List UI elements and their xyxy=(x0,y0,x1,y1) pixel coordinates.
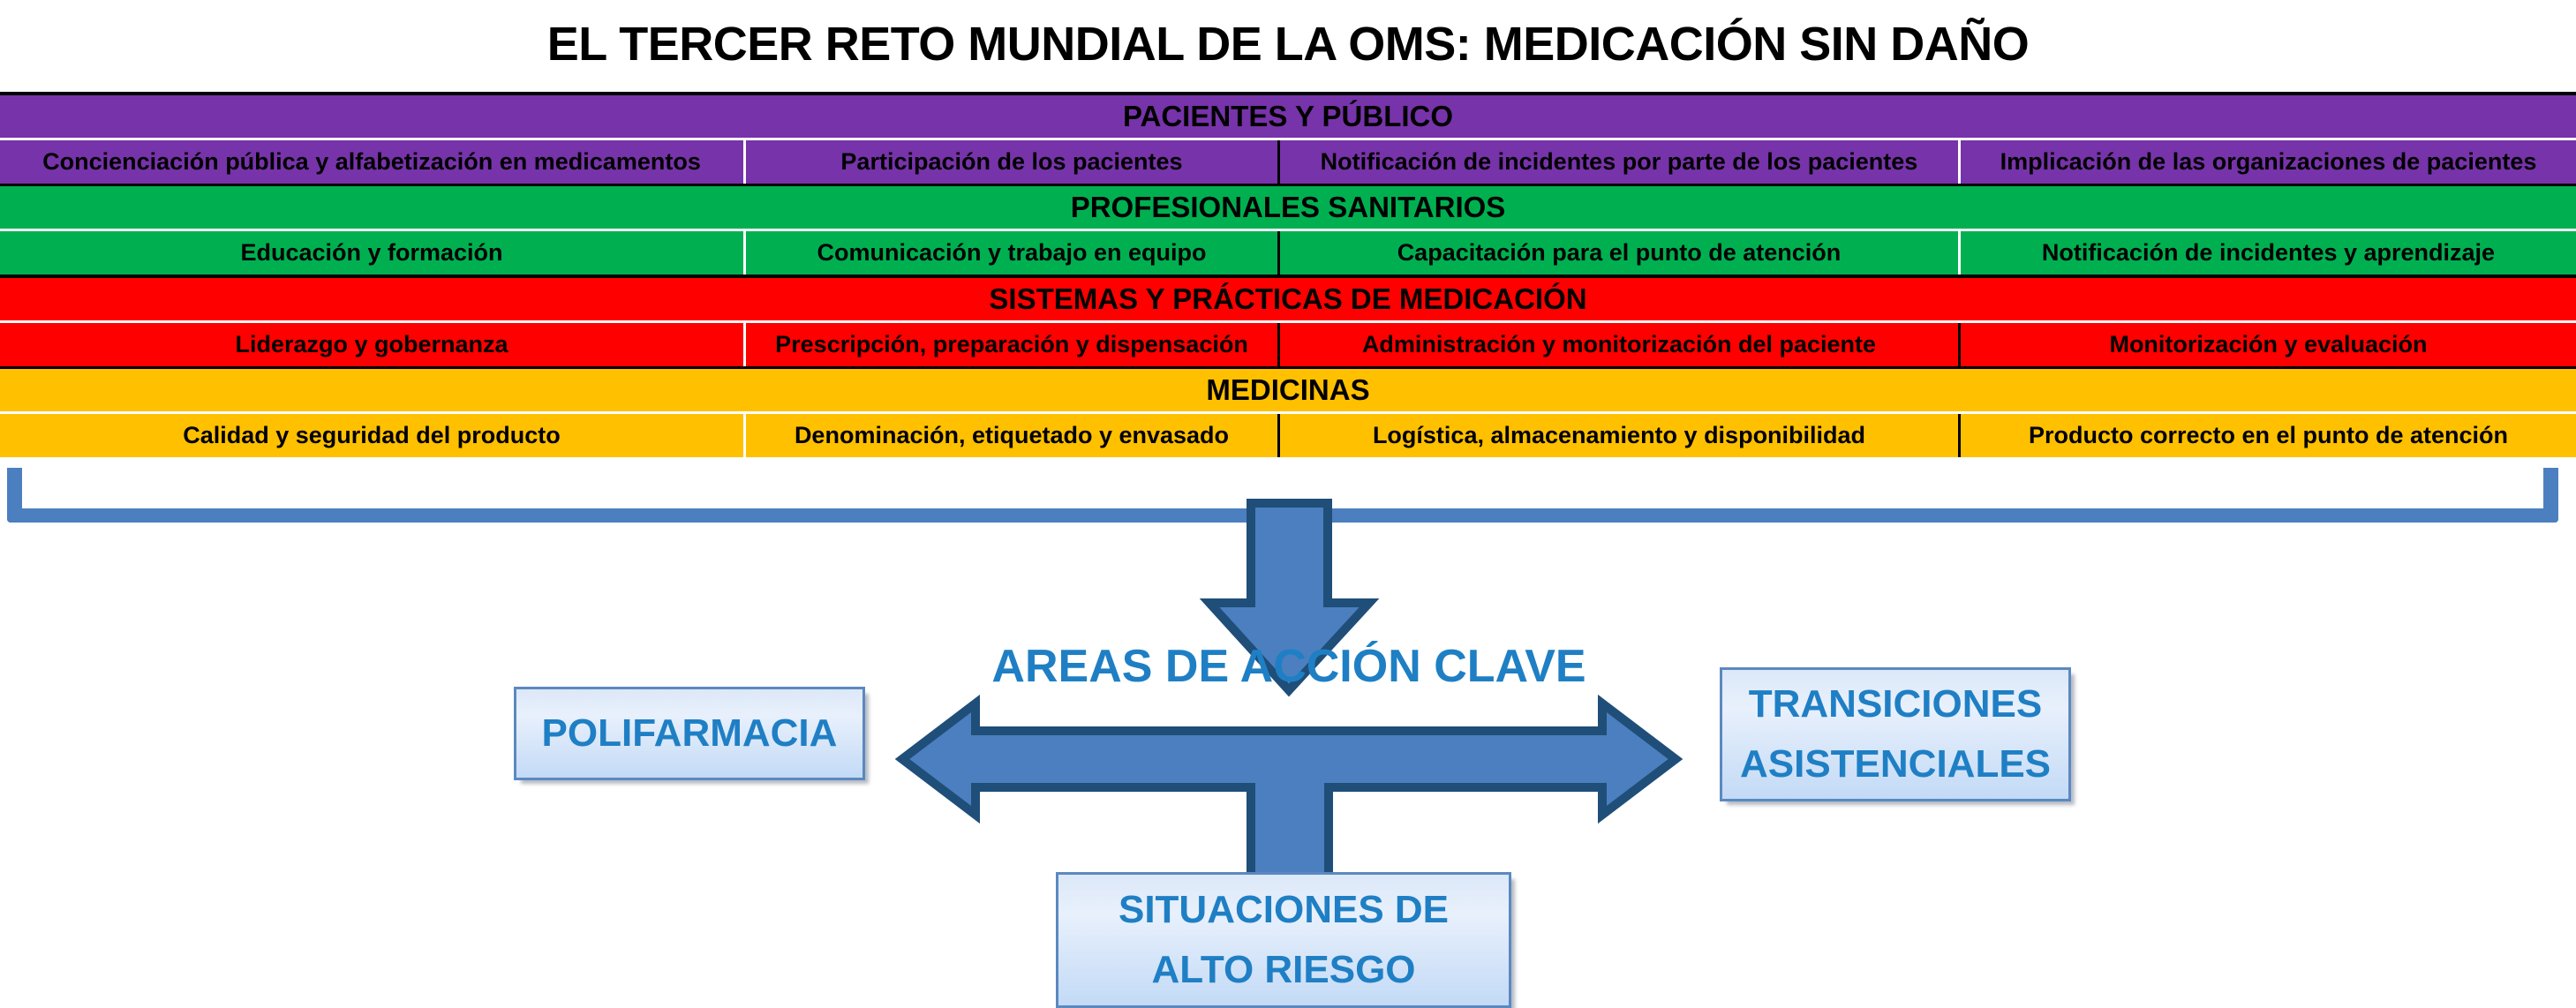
cell-profesionales-3: Capacitación para el punto de atención xyxy=(1280,231,1961,275)
band-header-medicinas: MEDICINAS xyxy=(0,369,2576,411)
band-sistemas-y-practicas: SISTEMAS Y PRÁCTICAS DE MEDICACIÓN Lider… xyxy=(0,275,2576,366)
band-pacientes-y-publico: PACIENTES Y PÚBLICO Concienciación públi… xyxy=(0,95,2576,184)
band-cells-sistemas: Liderazgo y gobernanza Prescripción, pre… xyxy=(0,320,2576,366)
node-box-transiciones-asistenciales[interactable]: TRANSICIONES ASISTENCIALES xyxy=(1720,667,2071,801)
cell-profesionales-1: Educación y formación xyxy=(0,231,746,275)
action-framework-matrix: PACIENTES Y PÚBLICO Concienciación públi… xyxy=(0,92,2576,450)
cell-pacientes-1: Concienciación pública y alfabetización … xyxy=(0,140,746,184)
page-title: EL TERCER RETO MUNDIAL DE LA OMS: MEDICA… xyxy=(0,0,2576,88)
cell-profesionales-2: Comunicación y trabajo en equipo xyxy=(746,231,1280,275)
cell-pacientes-4: Implicación de las organizaciones de pac… xyxy=(1961,140,2576,184)
cell-sistemas-2: Prescripción, preparación y dispensación xyxy=(746,323,1280,366)
node-box-polifarmacia-line1: POLIFARMACIA xyxy=(542,703,838,764)
cell-pacientes-3: Notificación de incidentes por parte de … xyxy=(1280,140,1961,184)
cell-sistemas-1: Liderazgo y gobernanza xyxy=(0,323,746,366)
band-header-pacientes: PACIENTES Y PÚBLICO xyxy=(0,95,2576,138)
cell-profesionales-4: Notificación de incidentes y aprendizaje xyxy=(1961,231,2576,275)
band-medicinas: MEDICINAS Calidad y seguridad del produc… xyxy=(0,366,2576,457)
band-cells-pacientes: Concienciación pública y alfabetización … xyxy=(0,138,2576,184)
band-header-sistemas: SISTEMAS Y PRÁCTICAS DE MEDICACIÓN xyxy=(0,278,2576,320)
center-heading: AREAS DE ACCIÓN CLAVE xyxy=(936,640,1642,693)
cell-sistemas-3: Administración y monitorización del paci… xyxy=(1280,323,1961,366)
node-box-situaciones-line1: SITUACIONES DE xyxy=(1119,880,1449,940)
band-profesionales-sanitarios: PROFESIONALES SANITARIOS Educación y for… xyxy=(0,184,2576,275)
node-box-transiciones-line2: ASISTENCIALES xyxy=(1740,734,2051,794)
cell-pacientes-2: Participación de los pacientes xyxy=(746,140,1280,184)
node-box-situaciones-line2: ALTO RIESGO xyxy=(1151,940,1415,1000)
band-header-profesionales: PROFESIONALES SANITARIOS xyxy=(0,186,2576,229)
node-box-polifarmacia[interactable]: POLIFARMACIA xyxy=(514,687,865,780)
cell-sistemas-4: Monitorización y evaluación xyxy=(1961,323,2576,366)
node-box-transiciones-line1: TRANSICIONES xyxy=(1749,674,2042,734)
band-cells-profesionales: Educación y formación Comunicación y tra… xyxy=(0,229,2576,275)
node-box-situaciones-alto-riesgo[interactable]: SITUACIONES DE ALTO RIESGO xyxy=(1056,872,1511,1008)
